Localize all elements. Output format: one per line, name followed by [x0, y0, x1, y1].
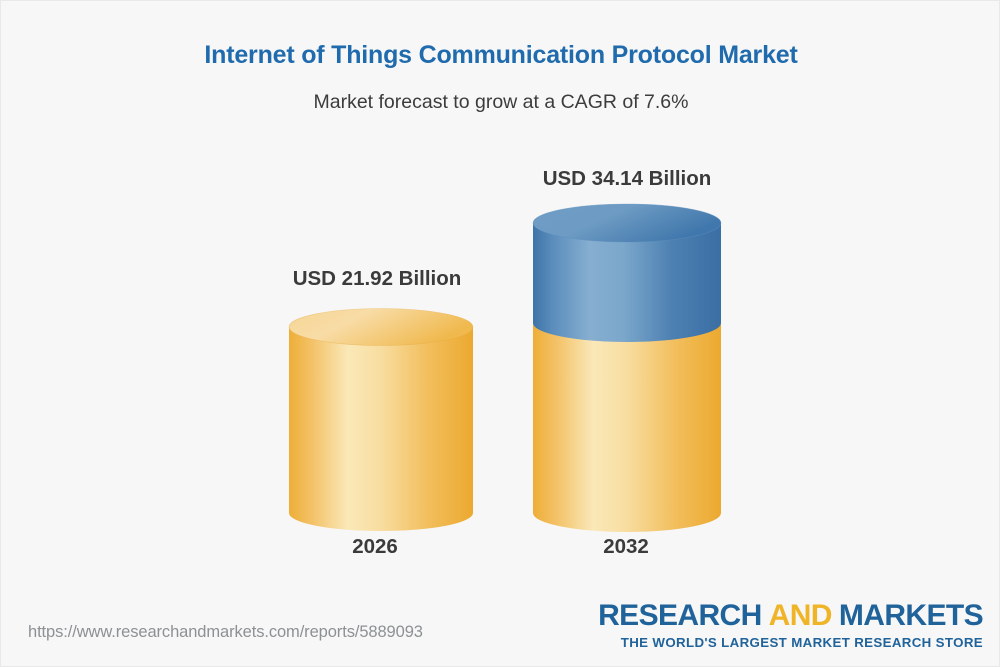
research-and-markets-logo[interactable]: RESEARCHANDMARKETS THE WORLD'S LARGEST M… — [598, 601, 983, 649]
logo-word-research: RESEARCH — [598, 599, 762, 632]
category-label-2026: 2026 — [295, 535, 455, 559]
category-label-2032: 2032 — [546, 535, 706, 559]
chart-canvas: Internet of Things Communication Protoco… — [0, 0, 1000, 667]
value-label-2032: USD 34.14 Billion — [519, 167, 735, 191]
cylinder-2032 — [521, 192, 733, 537]
plot-area: USD 21.92 Billion 2026 — [1, 1, 1000, 601]
report-url-link[interactable]: https://www.researchandmarkets.com/repor… — [28, 623, 423, 642]
value-label-2026: USD 21.92 Billion — [269, 267, 485, 291]
logo-wordmark: RESEARCHANDMARKETS — [598, 601, 983, 631]
logo-word-and: AND — [769, 599, 832, 632]
cylinder-2026 — [277, 297, 477, 537]
logo-tagline: THE WORLD'S LARGEST MARKET RESEARCH STOR… — [598, 636, 983, 649]
logo-word-markets: MARKETS — [839, 599, 983, 632]
